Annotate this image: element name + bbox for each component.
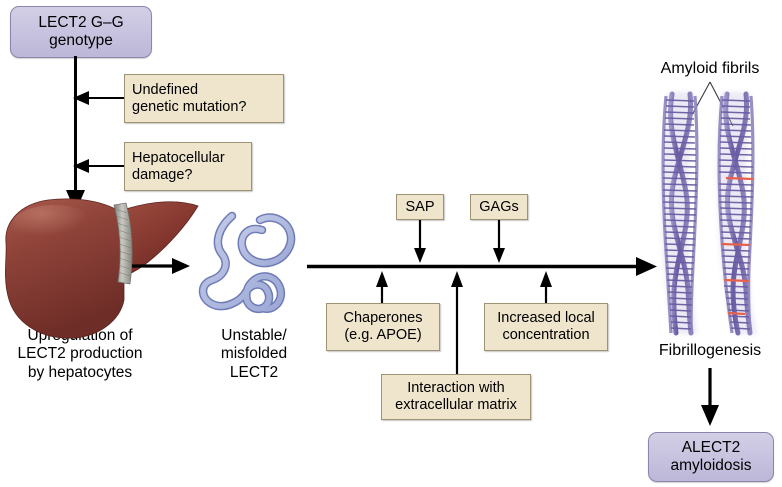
arrow-main-pathway xyxy=(307,257,657,276)
stage-label-unstable-protein: Unstable/ misfolded LECT2 xyxy=(195,327,313,382)
arrowhead-increased-local-concentration xyxy=(540,271,552,287)
stage-label-fibrillogenesis: Fibrillogenesis xyxy=(638,342,782,361)
cofactor-box-gags-label: GAGs xyxy=(479,199,518,216)
modifier-box-undefined-genetic-mutation-label: Undefined genetic mutation? xyxy=(132,82,246,116)
cofactor-box-increased-local-concentration[interactable]: Increased local concentration xyxy=(484,303,608,351)
arrowhead-extracellular-matrix xyxy=(451,271,463,287)
arrowhead-chaperones xyxy=(376,271,388,287)
liver-illustration xyxy=(5,199,198,338)
cofactor-box-sap[interactable]: SAP xyxy=(396,194,444,220)
node-lect2-genotype-label: LECT2 G–G genotype xyxy=(38,14,123,50)
arrow-undefined-mutation-shaft xyxy=(84,97,124,99)
fibril-accent-rungs xyxy=(721,178,753,314)
stage-label-amyloid-fibrils: Amyloid fibrils xyxy=(638,60,782,79)
cofactor-box-increased-local-concentration-label: Increased local concentration xyxy=(497,310,595,344)
arrow-genotype-to-liver-shaft xyxy=(74,56,77,200)
cofactor-box-chaperones[interactable]: Chaperones (e.g. APOE) xyxy=(326,303,440,351)
node-alect2-amyloidosis[interactable]: ALECT2 amyloidosis xyxy=(648,432,774,482)
leader-line-amyloid-fibrils xyxy=(686,82,733,126)
arrow-hepatocellular-damage-shaft xyxy=(84,165,124,167)
node-alect2-amyloidosis-label: ALECT2 amyloidosis xyxy=(671,439,752,475)
cofactor-box-extracellular-matrix[interactable]: Interaction with extracellular matrix xyxy=(381,374,531,420)
arrowhead-sap xyxy=(414,248,426,263)
arrowhead-gags xyxy=(493,248,505,263)
arrow-fibrillogenesis-to-outcome xyxy=(701,368,719,426)
stage-label-liver: Upregulation of LECT2 production by hepa… xyxy=(0,327,160,382)
diagram-canvas: LECT2 G–G genotype Undefined genetic mut… xyxy=(0,0,782,487)
cofactor-box-sap-label: SAP xyxy=(405,199,434,216)
amyloid-fibril-right xyxy=(718,92,758,334)
modifier-box-hepatocellular-damage-label: Hepatocellular damage? xyxy=(132,150,225,184)
cofactor-box-gags[interactable]: GAGs xyxy=(470,194,528,220)
arrow-liver-to-protein xyxy=(132,258,190,274)
node-lect2-genotype[interactable]: LECT2 G–G genotype xyxy=(10,6,152,58)
modifier-box-undefined-genetic-mutation[interactable]: Undefined genetic mutation? xyxy=(124,74,284,123)
amyloid-fibril-left xyxy=(661,92,697,334)
misfolded-protein-illustration xyxy=(203,216,291,309)
cofactor-box-chaperones-label: Chaperones (e.g. APOE) xyxy=(344,310,423,344)
cofactor-box-extracellular-matrix-label: Interaction with extracellular matrix xyxy=(395,380,517,414)
modifier-box-hepatocellular-damage[interactable]: Hepatocellular damage? xyxy=(124,142,252,191)
